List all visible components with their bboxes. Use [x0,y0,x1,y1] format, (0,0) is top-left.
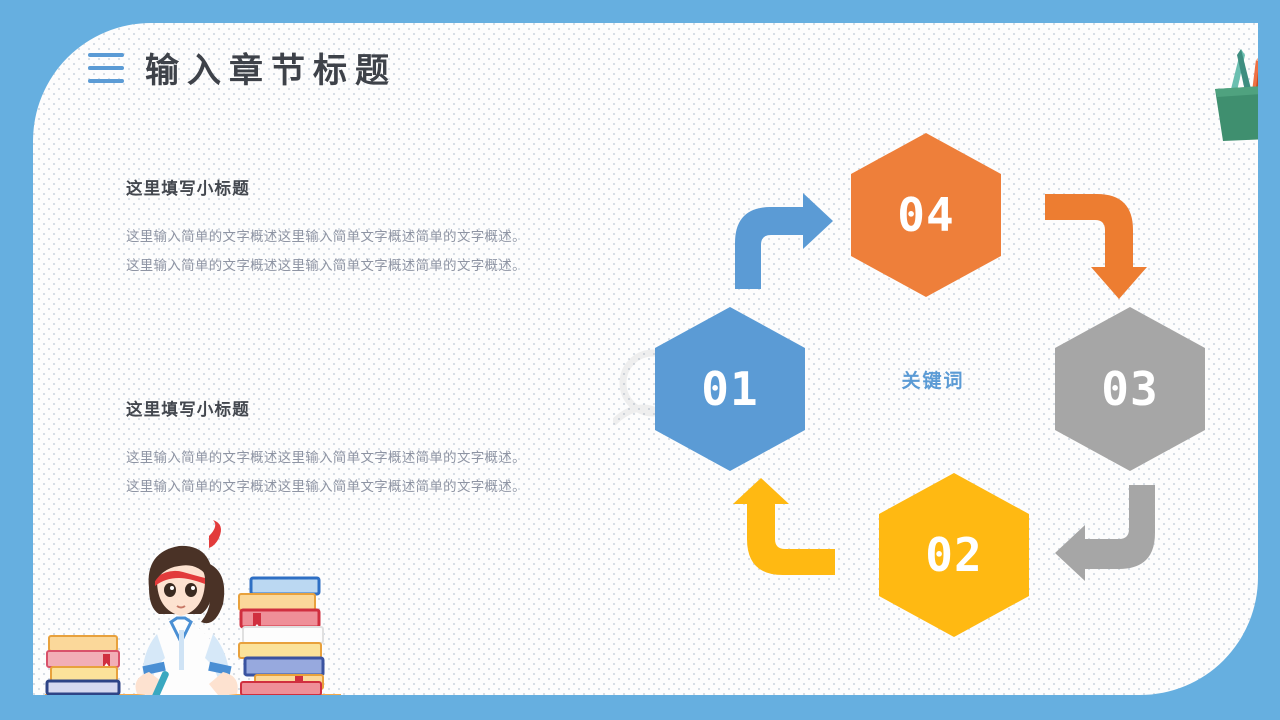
text-block-1: 这里填写小标题 这里输入简单的文字概述这里输入简单文字概述简单的文字概述。这里输… [126,175,536,280]
hexagon-01[interactable]: 01 [655,307,805,471]
text-block-2: 这里填写小标题 这里输入简单的文字概述这里输入简单文字概述简单的文字概述。这里输… [126,396,536,501]
body-text-1: 这里输入简单的文字概述这里输入简单文字概述简单的文字概述。这里输入简单的文字概述… [126,222,536,280]
curved-arrow-right-blue [731,191,835,289]
center-keyword-label: 关键词 [888,366,978,393]
hexagon-04-number: 04 [897,192,954,238]
subtitle-2: 这里填写小标题 [126,396,536,420]
body-text-2: 这里输入简单的文字概述这里输入简单文字概述简单的文字概述。这里输入简单的文字概述… [126,443,536,501]
curved-arrow-left-gray [1055,485,1159,583]
hexagon-03[interactable]: 03 [1055,307,1205,471]
curved-arrow-down-orange [1045,191,1149,301]
pen-holder-icon [1201,41,1258,143]
hexagon-02[interactable]: 02 [879,473,1029,637]
hexagon-04[interactable]: 04 [851,133,1001,297]
hexagon-01-number: 01 [701,366,758,412]
curved-arrow-up-yellow [731,478,835,578]
hamburger-bar [88,79,124,83]
page-title: 输入章节标题 [145,43,397,92]
hamburger-bar [88,53,124,57]
student-studying-illustration [33,518,353,695]
hamburger-menu-icon[interactable] [88,53,124,83]
hexagon-03-number: 03 [1101,366,1158,412]
hexagon-02-number: 02 [925,532,982,578]
slide-card: 输入章节标题 这里填写小标题 这里输入简单的文字概述这里输入简单文字概述简单的文… [33,23,1258,695]
subtitle-1: 这里填写小标题 [126,175,536,199]
hamburger-bar [88,66,124,70]
